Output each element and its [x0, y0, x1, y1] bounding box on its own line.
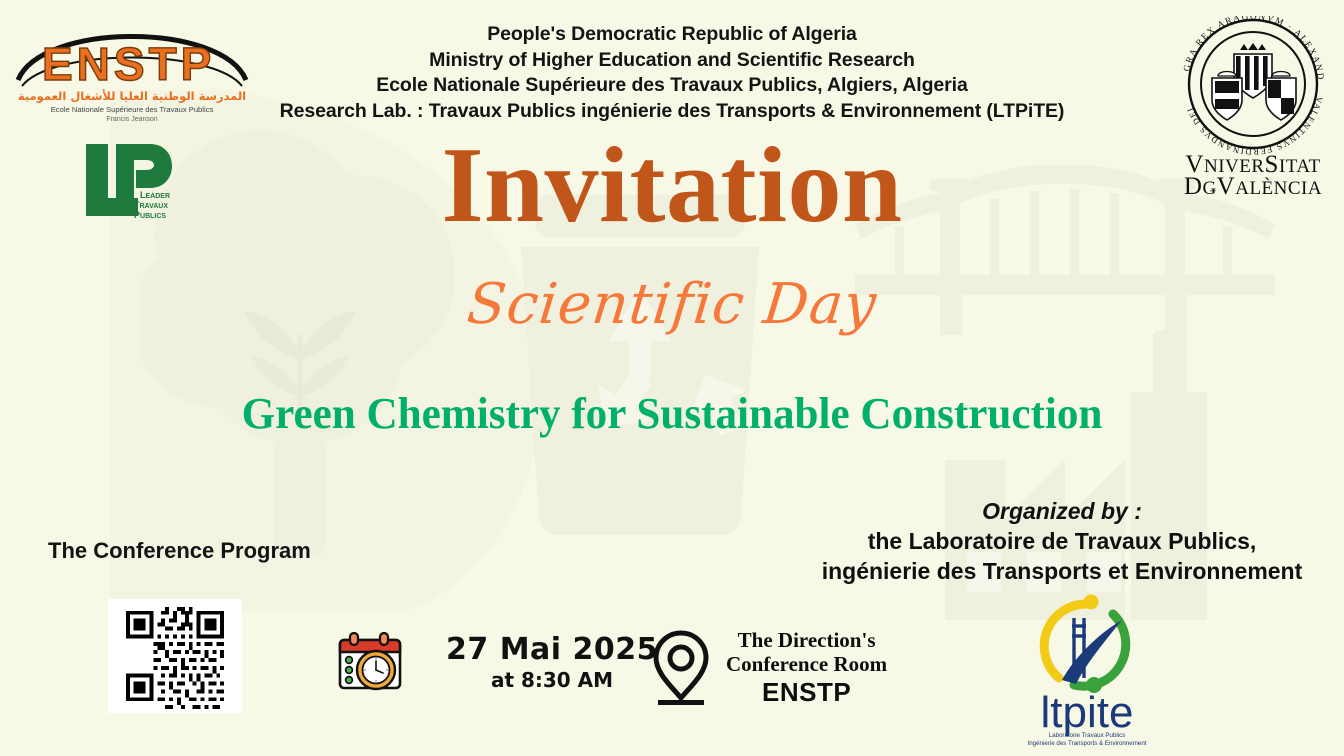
ltpite-wordmark: ltpite — [1041, 688, 1134, 737]
conference-program-label: The Conference Program — [48, 538, 311, 564]
organizer-line-1: the Laboratoire de Travaux Publics, — [802, 526, 1322, 556]
header-line-2: Ministry of Higher Education and Scienti… — [232, 48, 1112, 74]
invitation-poster: ENSTP المدرسة الوطنية العليا للأشغال الع… — [0, 0, 1344, 756]
location-line-2: Conference Room — [726, 652, 887, 676]
organized-by-block: Organized by : the Laboratoire de Travau… — [802, 496, 1322, 586]
organized-by-label: Organized by : — [802, 496, 1322, 526]
enstp-subname: Francis Jeanson — [106, 116, 157, 123]
qr-code[interactable] — [108, 599, 242, 713]
header-line-3: Ecole Nationale Supérieure des Travaux P… — [232, 73, 1112, 99]
invitation-heading: Invitation — [0, 130, 1344, 242]
enstp-logo: ENSTP المدرسة الوطنية العليا للأشغال الع… — [12, 8, 252, 128]
enstp-arabic-subtitle: المدرسة الوطنية العليا للأشغال العمومية — [18, 89, 246, 104]
conference-theme-title: Green Chemistry for Sustainable Construc… — [13, 386, 1330, 442]
ltpite-subtitle-1: Laboratoire Travaux Publics — [1049, 732, 1126, 739]
header-line-4: Research Lab. : Travaux Publics ingénier… — [232, 99, 1112, 125]
location-block: The Direction's Conference Room ENSTP — [650, 628, 887, 708]
header-line-1: People's Democratic Republic of Algeria — [232, 22, 1112, 48]
organizer-line-2: ingénierie des Transports et Environneme… — [802, 556, 1322, 586]
event-time: at 8:30 AM — [446, 667, 658, 693]
svg-text:ENSTP: ENSTP — [42, 38, 215, 90]
location-venue: ENSTP — [726, 676, 887, 708]
ltpite-logo: ltpite Laboratoire Travaux Publics Ingén… — [1012, 592, 1162, 747]
ltpite-subtitle-2: Ingénierie des Transports & Environnemen… — [1027, 740, 1146, 747]
institution-header: People's Democratic Republic of Algeria … — [232, 22, 1112, 124]
calendar-clock-icon — [336, 632, 404, 694]
recycle-bin-watermark — [495, 195, 785, 535]
date-block: 27 Mai 2025 at 8:30 AM — [336, 632, 658, 694]
event-date: 27 Mai 2025 — [446, 633, 658, 667]
enstp-french-subtitle: Ecole Nationale Supérieure des Travaux P… — [51, 105, 214, 114]
scientific-day-subtitle: Scientific Day — [0, 272, 1344, 338]
location-line-1: The Direction's — [726, 628, 887, 652]
map-pin-icon — [650, 629, 712, 707]
